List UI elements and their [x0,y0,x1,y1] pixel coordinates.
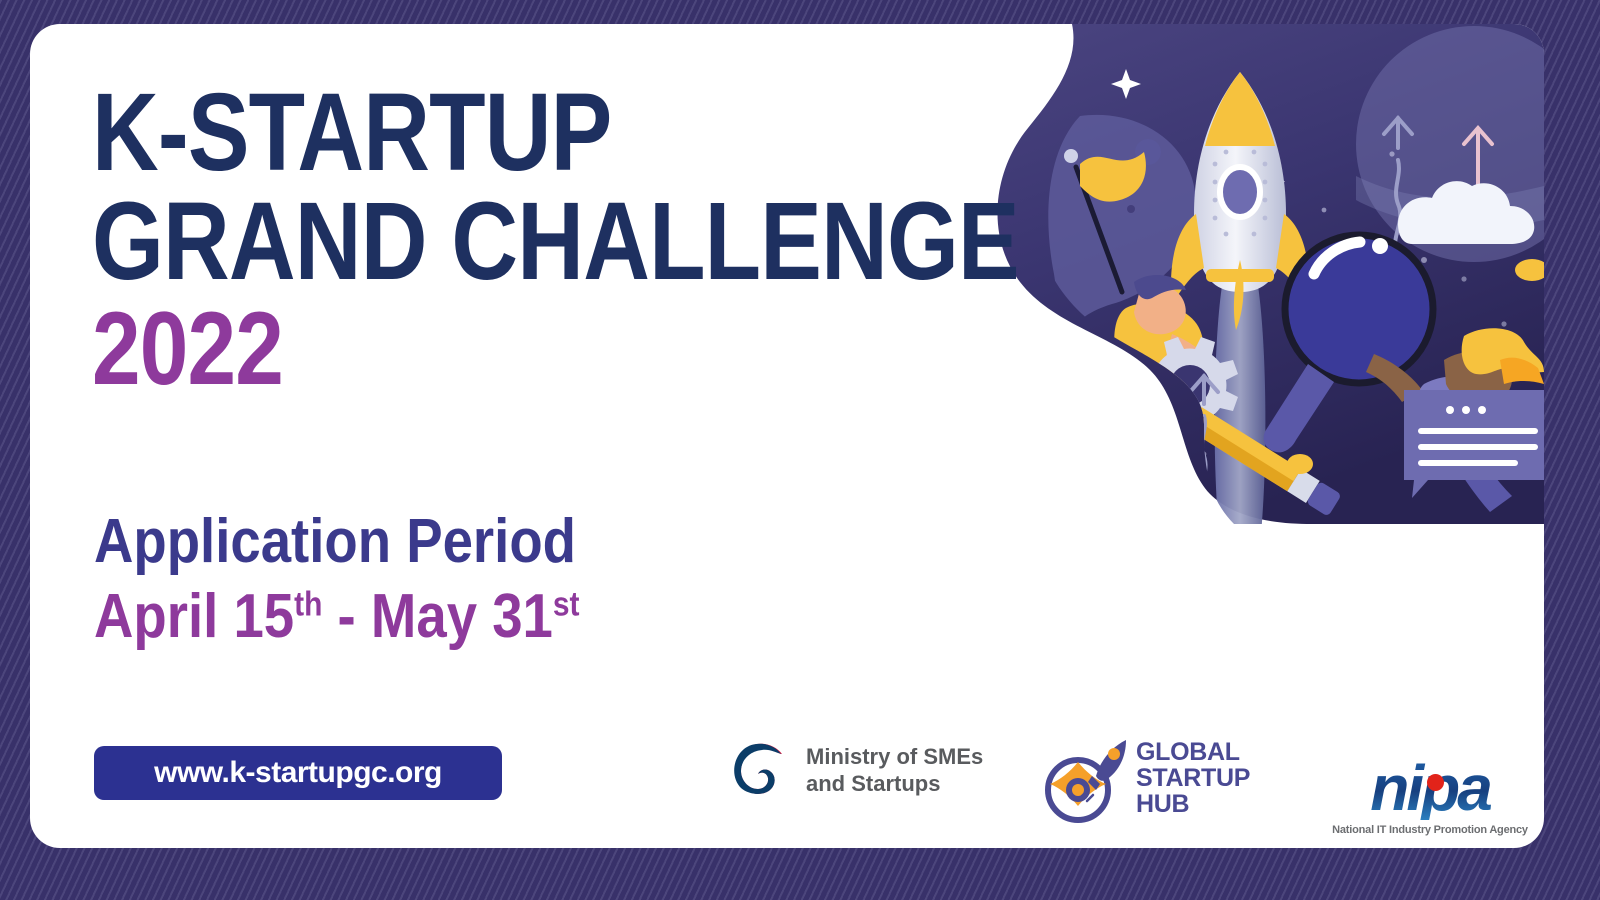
taegeuk-icon [730,740,792,802]
partner-logos: Ministry of SMEs and Startups [730,724,1540,834]
ministry-text-line-2: and Startups [806,771,983,798]
nipa-red-dot-icon [1427,774,1444,791]
global-startup-hub-text: GLOBAL STARTUP HUB [1136,739,1290,817]
application-period-block: Application Period April 15th - May 31st [94,510,646,648]
website-url-button[interactable]: www.k-startupgc.org [94,746,502,800]
start-suffix: th [294,586,322,624]
application-period-label: Application Period [94,510,579,573]
headline-line-1: K-STARTUP [92,82,1019,183]
application-period-dates: April 15th - May 31st [94,585,579,648]
start-month: April [94,582,218,651]
poster-canvas: $ K-STARTUP GRAND CHALLENGE 2022 Applica… [0,0,1600,900]
headline-block: K-STARTUP GRAND CHALLENGE 2022 [92,82,1195,398]
coin-icon [1287,454,1313,474]
date-separator: - [338,582,356,651]
website-url-label: www.k-startupgc.org [154,756,442,790]
end-month: May [371,582,477,651]
end-suffix: st [553,586,580,624]
start-day: 15 [233,582,294,651]
logo-global-startup-hub: GLOBAL STARTUP HUB [1040,728,1290,828]
books-icon [1110,462,1191,524]
gsh-text-line-1: GLOBAL [1136,739,1290,765]
logo-ministry-of-smes-and-startups: Ministry of SMEs and Startups [730,740,983,802]
nipa-tagline: National IT Industry Promotion Agency [1320,824,1540,836]
end-day: 31 [492,582,553,651]
ministry-text-line-1: Ministry of SMEs [806,744,983,771]
logo-nipa: nipa National IT Industry Promotion Agen… [1320,730,1540,834]
ministry-logo-text: Ministry of SMEs and Startups [806,744,983,798]
gsh-text-line-2: STARTUP HUB [1136,765,1290,817]
poster-card: $ K-STARTUP GRAND CHALLENGE 2022 Applica… [30,24,1544,848]
headline-year: 2022 [92,302,1019,398]
rocket-target-icon [1040,732,1132,824]
headline-line-2: GRAND CHALLENGE [92,191,1019,292]
